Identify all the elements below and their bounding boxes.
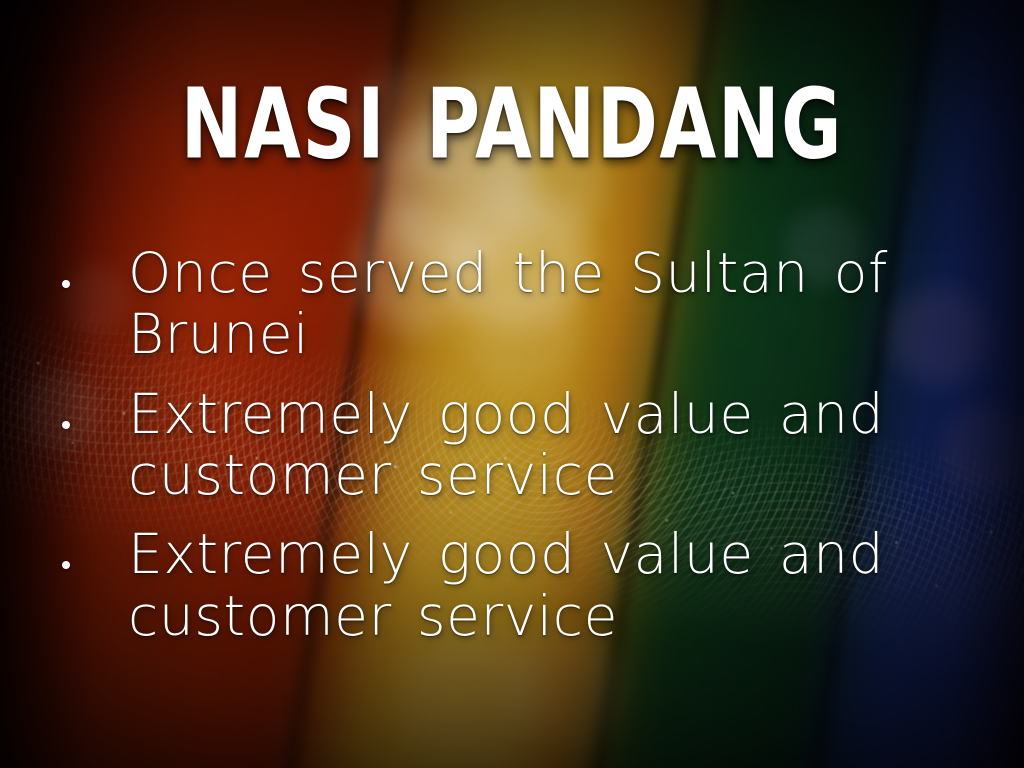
bullet-list: Once served the Sultan of Brunei Extreme… [50,243,950,647]
list-item: Extremely good value and customer servic… [50,384,950,507]
bullet-dot-icon [62,280,70,288]
slide-content: NASI PANDANG Once served the Sultan of B… [0,0,1024,768]
bullet-dot-icon [62,421,70,429]
list-item: Extremely good value and customer servic… [50,524,950,647]
list-item-label: Extremely good value and customer servic… [128,524,950,647]
page-title: NASI PANDANG [102,76,921,174]
list-item-label: Once served the Sultan of Brunei [128,243,950,366]
list-item: Once served the Sultan of Brunei [50,243,950,366]
list-item-label: Extremely good value and customer servic… [128,384,950,507]
bullet-dot-icon [62,561,70,569]
presentation-slide: NASI PANDANG Once served the Sultan of B… [0,0,1024,768]
